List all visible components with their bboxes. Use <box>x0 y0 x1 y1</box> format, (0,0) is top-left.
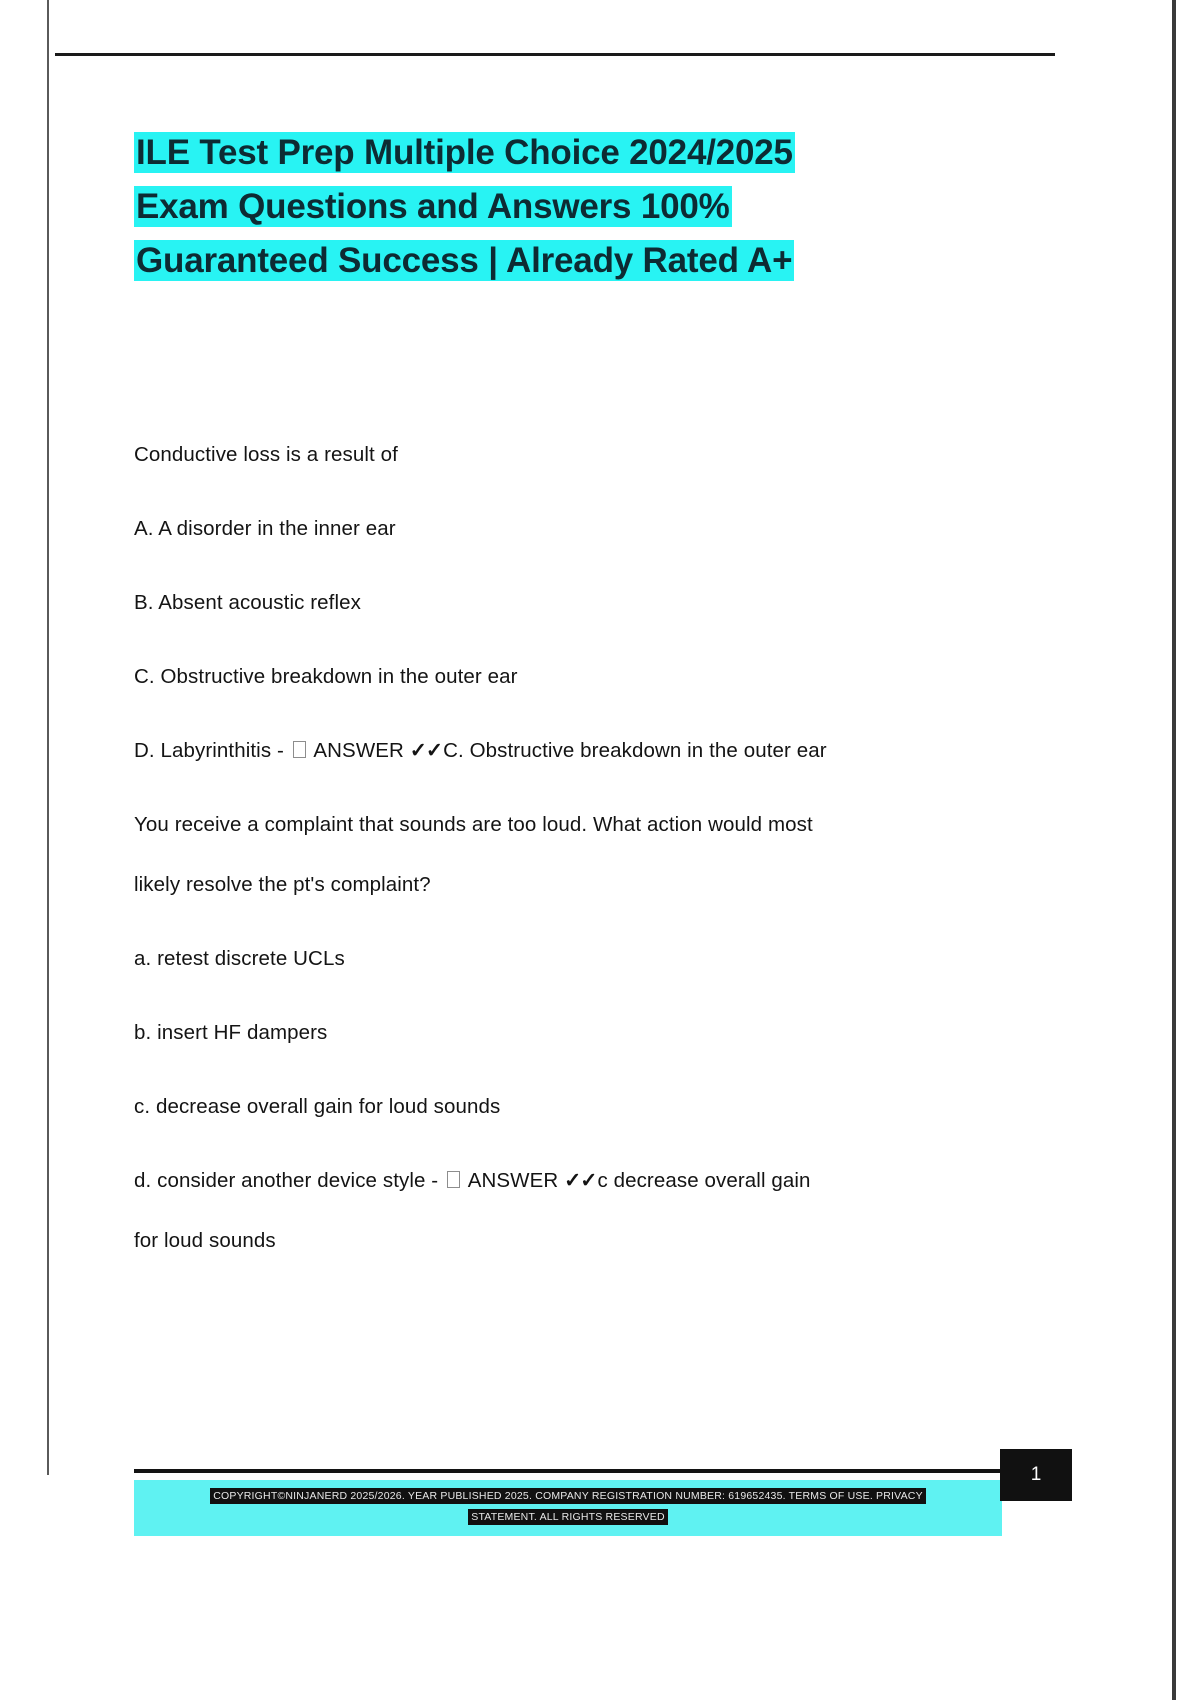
question-2-stem-line-1: You receive a complaint that sounds are … <box>134 810 1014 840</box>
page-title-line-1: ILE Test Prep Multiple Choice 2024/2025 <box>134 132 795 173</box>
page-title: ILE Test Prep Multiple Choice 2024/2025 … <box>134 126 1014 288</box>
page-right-edge-shadow <box>1172 0 1200 1700</box>
double-check-icon-1: ✓✓ <box>410 739 443 762</box>
footer-copyright: COPYRIGHT©NINJANERD 2025/2026. YEAR PUBL… <box>134 1486 1002 1528</box>
footer-divider <box>134 1469 1002 1473</box>
question-2-answer-line: d. consider another device style - ANSWE… <box>134 1166 1014 1196</box>
question-2-option-b: b. insert HF dampers <box>134 1018 1014 1048</box>
footer-copyright-line-2: STATEMENT. ALL RIGHTS RESERVED <box>468 1509 668 1525</box>
question-2-option-d-text: d. consider another device style - <box>134 1169 444 1192</box>
question-2-answer-continuation: for loud sounds <box>134 1226 1014 1256</box>
question-1-option-c: C. Obstructive breakdown in the outer ea… <box>134 662 1014 692</box>
footer-copyright-line-1: COPYRIGHT©NINJANERD 2025/2026. YEAR PUBL… <box>210 1488 926 1504</box>
missing-glyph-box-icon <box>447 1171 460 1188</box>
question-2-option-a: a. retest discrete UCLs <box>134 944 1014 974</box>
answer-label-1: ANSWER <box>309 739 410 762</box>
answer-2-value: c decrease overall gain <box>597 1169 810 1192</box>
question-1-option-a: A. A disorder in the inner ear <box>134 514 1014 544</box>
answer-label-2: ANSWER <box>463 1169 564 1192</box>
page-title-line-2: Exam Questions and Answers 100% <box>134 186 732 227</box>
header-divider <box>55 53 1055 56</box>
question-2-stem-line-2: likely resolve the pt's complaint? <box>134 870 1014 900</box>
question-1-option-b: B. Absent acoustic reflex <box>134 588 1014 618</box>
double-check-icon-2: ✓✓ <box>564 1169 597 1192</box>
page-number-badge: 1 <box>1000 1449 1072 1501</box>
document-content: ILE Test Prep Multiple Choice 2024/2025 … <box>134 126 1014 1300</box>
question-1-stem: Conductive loss is a result of <box>134 440 1014 470</box>
question-1-answer-line: D. Labyrinthitis - ANSWER ✓✓C. Obstructi… <box>134 736 1014 766</box>
missing-glyph-box-icon <box>293 741 306 758</box>
question-answer-block: Conductive loss is a result of A. A diso… <box>134 440 1014 1256</box>
question-2-option-c: c. decrease overall gain for loud sounds <box>134 1092 1014 1122</box>
question-1-option-d-text: D. Labyrinthitis - <box>134 739 290 762</box>
document-page: ILE Test Prep Multiple Choice 2024/2025 … <box>0 0 1200 1700</box>
answer-1-value: C. Obstructive breakdown in the outer ea… <box>443 739 827 762</box>
page-title-line-3: Guaranteed Success | Already Rated A+ <box>134 240 794 281</box>
page-left-edge-rule <box>47 0 49 1475</box>
